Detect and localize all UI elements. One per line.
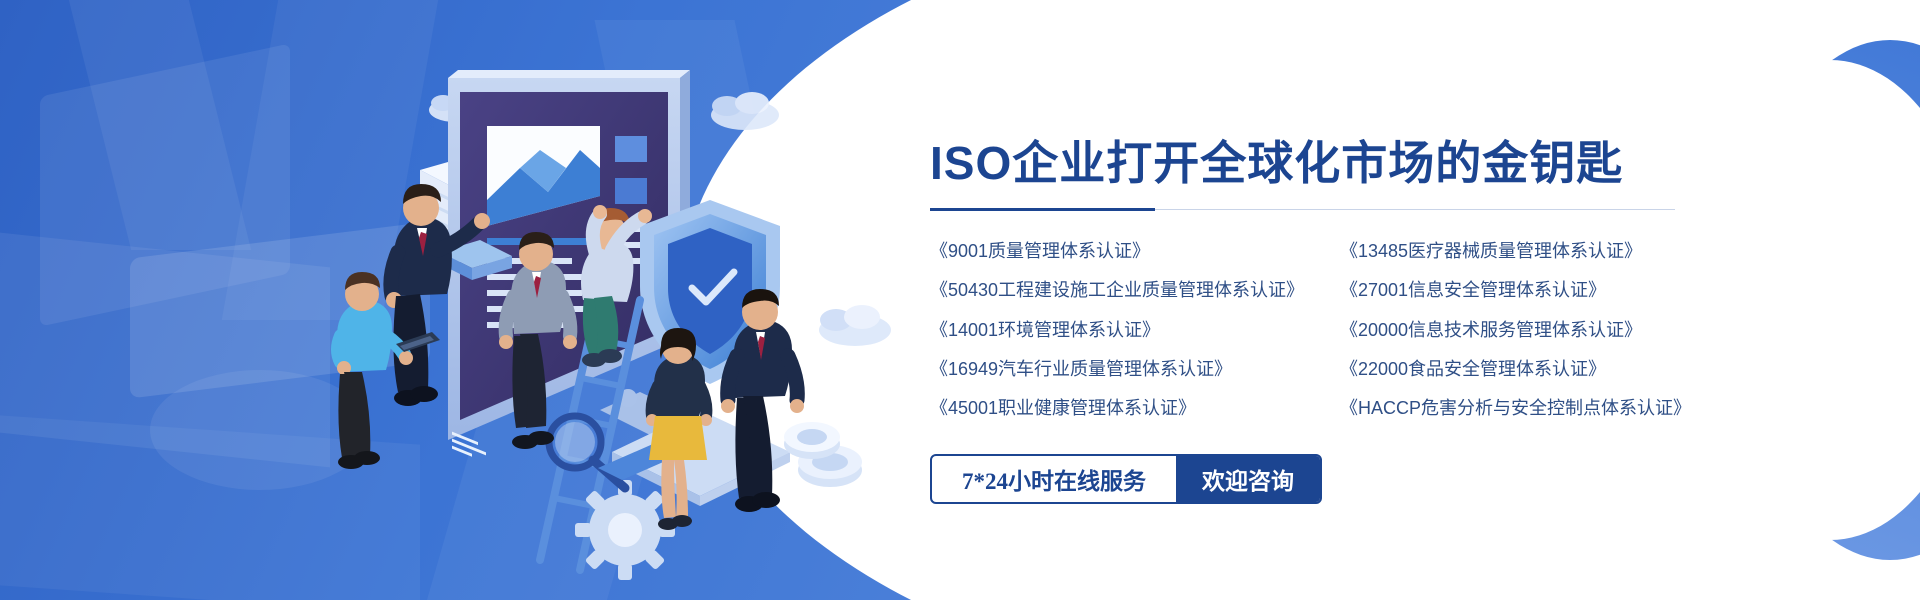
list-item[interactable]: 《45001职业健康管理体系认证》	[930, 396, 1340, 420]
list-item[interactable]: 《22000食品安全管理体系认证》	[1340, 357, 1710, 381]
cloud-icon	[711, 92, 779, 130]
list-item[interactable]: 《9001质量管理体系认证》	[930, 239, 1340, 263]
page-title: ISO企业打开全球化市场的金钥匙	[930, 140, 1710, 186]
service-hours-label: 7*24小时在线服务	[932, 456, 1176, 502]
consult-button[interactable]: 欢迎咨询	[1176, 456, 1320, 502]
coins	[784, 422, 862, 487]
list-item[interactable]: 《13485医疗器械质量管理体系认证》	[1340, 239, 1710, 263]
list-item[interactable]: 《27001信息安全管理体系认证》	[1340, 278, 1710, 302]
list-item[interactable]: 《HACCP危害分析与安全控制点体系认证》	[1340, 396, 1710, 420]
list-item[interactable]: 《16949汽车行业质量管理体系认证》	[930, 357, 1340, 381]
list-item[interactable]: 《50430工程建设施工企业质量管理体系认证》	[930, 278, 1340, 302]
hero-illustration	[0, 0, 930, 600]
cloud-icon	[819, 305, 891, 346]
divider-line-accent	[930, 208, 1155, 211]
title-divider	[930, 208, 1675, 211]
iso-certification-banner: ISO企业打开全球化市场的金钥匙 《9001质量管理体系认证》 《13485医疗…	[0, 0, 1920, 600]
banner-content: ISO企业打开全球化市场的金钥匙 《9001质量管理体系认证》 《13485医疗…	[930, 140, 1710, 504]
list-item[interactable]: 《20000信息技术服务管理体系认证》	[1340, 318, 1710, 342]
gear-icon	[575, 480, 675, 580]
list-item[interactable]: 《14001环境管理体系认证》	[930, 318, 1340, 342]
certification-list: 《9001质量管理体系认证》 《13485医疗器械质量管理体系认证》 《5043…	[930, 239, 1710, 420]
cta-group[interactable]: 7*24小时在线服务 欢迎咨询	[930, 454, 1322, 504]
